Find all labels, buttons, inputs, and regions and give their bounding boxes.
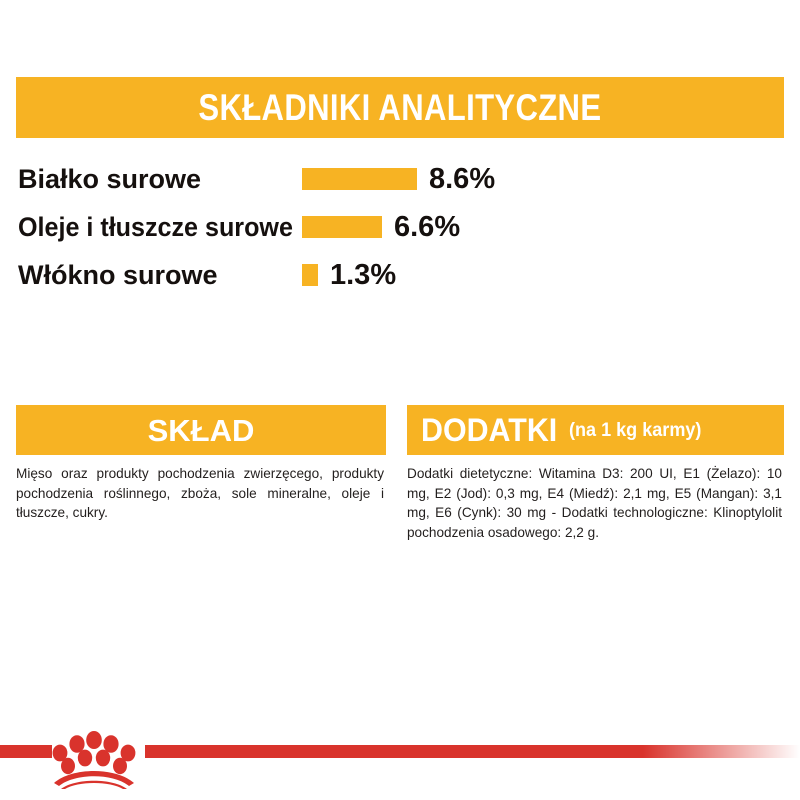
nutrient-bar-track-fibre xyxy=(302,264,318,286)
composition-banner: SKŁAD xyxy=(16,405,386,455)
nutrient-value-protein: 8.6% xyxy=(429,165,495,194)
nutrient-label-fibre: Włókno surowe xyxy=(18,262,272,289)
nutrient-bar-track-protein xyxy=(302,168,417,190)
nutrient-label-protein: Białko surowe xyxy=(18,166,272,193)
brand-strip xyxy=(0,745,800,800)
nutrient-row: Białko surowe 8.6% xyxy=(0,155,800,203)
analytical-constituents-title: SKŁADNIKI ANALITYCZNE xyxy=(198,89,601,126)
brand-rule-left xyxy=(0,745,52,758)
nutrient-row: Włókno surowe 1.3% xyxy=(0,251,800,299)
nutrient-value-fibre: 1.3% xyxy=(330,261,396,290)
nutrient-bar-fats xyxy=(302,216,382,238)
nutrient-bar-fibre xyxy=(302,264,318,286)
nutrient-value-fats: 6.6% xyxy=(394,213,460,242)
additives-subtitle: (na 1 kg karmy) xyxy=(569,421,701,440)
nutrient-row: Oleje i tłuszcze surowe 6.6% xyxy=(0,203,800,251)
nutrient-label-fats: Oleje i tłuszcze surowe xyxy=(18,214,254,241)
analytical-constituents-banner: SKŁADNIKI ANALITYCZNE xyxy=(16,77,784,138)
additives-banner: DODATKI (na 1 kg karmy) xyxy=(407,405,784,455)
composition-title: SKŁAD xyxy=(148,415,255,446)
packaging-info-panel: SKŁADNIKI ANALITYCZNE Białko surowe 8.6%… xyxy=(0,0,800,800)
analytical-constituents-list: Białko surowe 8.6% Oleje i tłuszcze suro… xyxy=(0,155,800,299)
composition-body-text: Mięso oraz produkty pochodzenia zwierzęc… xyxy=(16,464,386,523)
additives-panel: DODATKI (na 1 kg karmy) Dodatki dietetyc… xyxy=(407,405,784,542)
royal-canin-crown-icon xyxy=(50,727,138,789)
additives-title: DODATKI xyxy=(421,414,557,446)
nutrient-bar-track-fats xyxy=(302,216,382,238)
composition-panel: SKŁAD Mięso oraz produkty pochodzenia zw… xyxy=(16,405,386,523)
brand-rule-right xyxy=(145,745,800,758)
nutrient-bar-protein xyxy=(302,168,417,190)
additives-body-text: Dodatki dietetyczne: Witamina D3: 200 UI… xyxy=(407,464,784,542)
